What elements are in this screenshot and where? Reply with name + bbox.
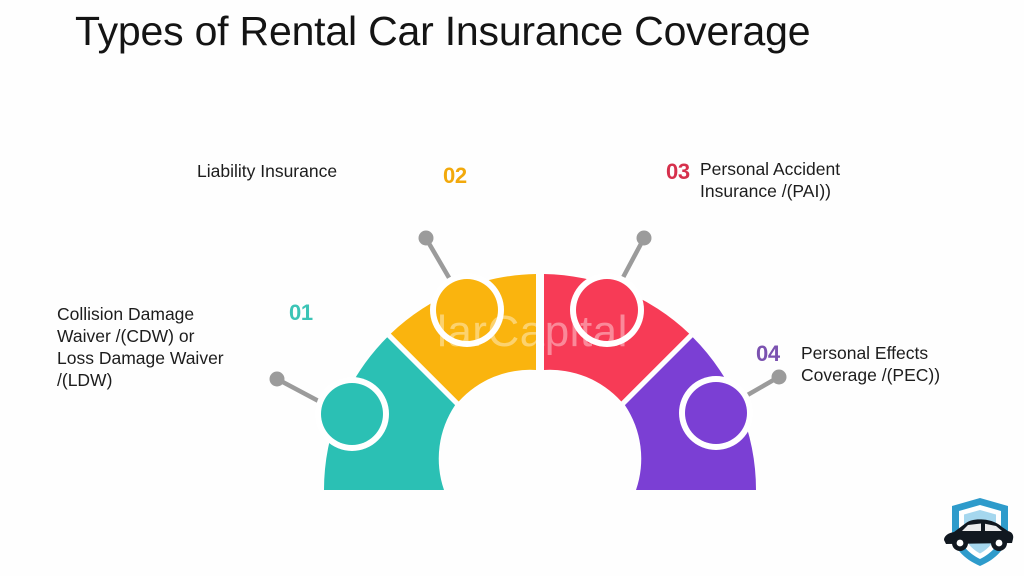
segment-number-04: 04	[756, 342, 780, 366]
segment-number-02: 02	[443, 164, 467, 188]
segment-marker-04[interactable]	[685, 382, 747, 444]
segment-number-03: 03	[666, 160, 690, 184]
segment-label-04: Personal Effects Coverage /(PEC))	[801, 342, 1021, 386]
segment-label-01: Collision Damage Waiver /(CDW) or Loss D…	[57, 303, 272, 391]
segment-label-02: Liability Insurance	[197, 160, 427, 182]
infographic-canvas: Types of Rental Car Insurance Coverage	[0, 0, 1024, 576]
connector-dot-03	[637, 231, 652, 246]
segment-number-01: 01	[289, 301, 313, 325]
connector-dot-02	[419, 231, 434, 246]
car-shield-logo	[936, 492, 1020, 572]
segment-marker-01[interactable]	[321, 383, 383, 445]
segment-marker-02[interactable]	[436, 279, 498, 341]
segment-label-03: Personal Accident Insurance /(PAI))	[700, 158, 945, 202]
semicircle-donut-chart	[0, 0, 1024, 576]
segment-marker-03[interactable]	[576, 279, 638, 341]
connector-dot-04	[772, 370, 787, 385]
